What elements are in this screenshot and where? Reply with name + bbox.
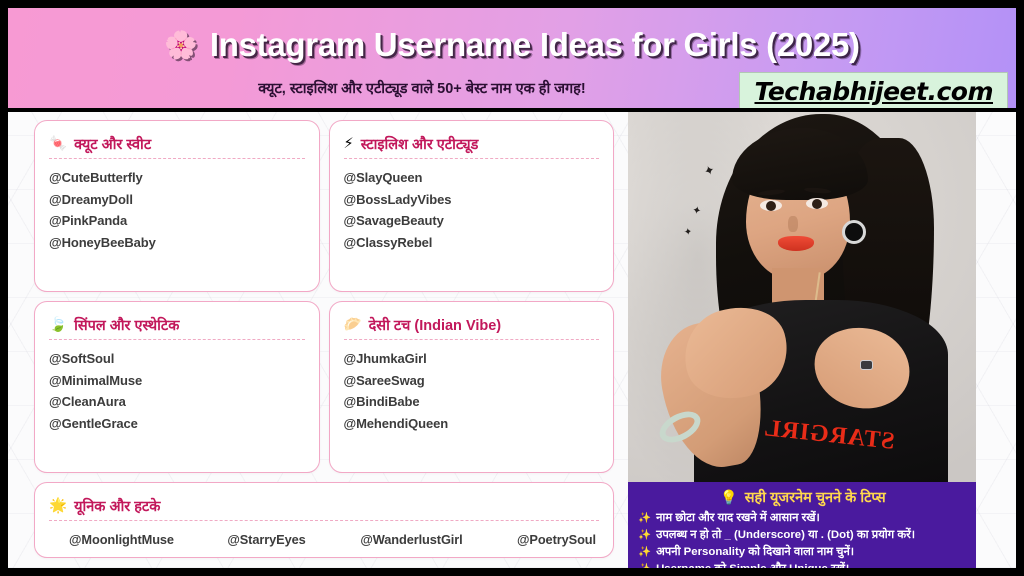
list-item[interactable]: @SlayQueen [344, 167, 600, 189]
eye [806, 198, 828, 209]
category-card[interactable]: 🥟 देसी टच (Indian Vibe) @JhumkaGirl @Sar… [329, 301, 615, 473]
list-item[interactable]: @PoetrySoul [484, 529, 629, 551]
header-banner: 🌸 Instagram Username Ideas for Girls (20… [8, 8, 1016, 108]
list-item[interactable]: @CleanAura [49, 391, 305, 413]
sparkles-icon: ✨ [638, 547, 651, 558]
card-header: 🥟 देसी टच (Indian Vibe) [344, 315, 600, 335]
card-title: स्टाइलिश और एटीट्यूड [361, 134, 479, 154]
list-item[interactable]: @StarryEyes [194, 529, 339, 551]
lightning-bolt-icon: ⚡ [344, 137, 354, 152]
list-item[interactable]: @DreamyDoll [49, 189, 305, 211]
butterfly-icon: ✦ [701, 159, 719, 183]
tip-item: ✨ उपलब्ध न हो तो _ (Underscore) या . (Do… [638, 527, 968, 542]
list-item[interactable]: @JhumkaGirl [344, 348, 600, 370]
divider [49, 158, 305, 159]
nose [788, 216, 798, 232]
shirt-text: STARGIRL [753, 414, 905, 457]
card-title: सिंपल और एस्थेटिक [74, 315, 179, 335]
list-item[interactable]: @GentleGrace [49, 413, 305, 435]
username-list: @CuteButterfly @DreamyDoll @PinkPanda @H… [49, 167, 305, 253]
finger-ring [860, 360, 873, 370]
list-item[interactable]: @MoonlightMuse [49, 529, 194, 551]
watermark-text: Techabhijeet.com [754, 77, 993, 106]
watermark-badge: Techabhijeet.com [739, 72, 1008, 108]
tip-item: ✨ Username को Simple और Unique रखें। [638, 561, 968, 568]
header-title-row: 🌸 Instagram Username Ideas for Girls (20… [8, 26, 1016, 64]
category-grid: 🍬 क्यूट और स्वीट @CuteButterfly @DreamyD… [34, 120, 614, 558]
list-item[interactable]: @WanderlustGirl [339, 529, 484, 551]
cherry-blossom-icon: 🌸 [164, 32, 198, 59]
tip-text: Username को Simple और Unique रखें। [656, 561, 849, 568]
list-item[interactable]: @SavageBeauty [344, 210, 600, 232]
card-title: देसी टच (Indian Vibe) [369, 315, 502, 335]
infographic-page: 🌸 Instagram Username Ideas for Girls (20… [0, 0, 1024, 576]
tip-item: ✨ नाम छोटा और याद रखने में आसान रखें। [638, 510, 968, 525]
list-item[interactable]: @PinkPanda [49, 210, 305, 232]
tip-text: नाम छोटा और याद रखने में आसान रखें। [656, 510, 820, 525]
list-item[interactable]: @SoftSoul [49, 348, 305, 370]
unique-names-card[interactable]: 🌟 यूनिक और हटके @MoonlightMuse @StarryEy… [34, 482, 614, 558]
divider [344, 339, 600, 340]
card-header: 🍬 क्यूट और स्वीट [49, 134, 305, 154]
category-card[interactable]: ⚡ स्टाइलिश और एटीट्यूड @SlayQueen @BossL… [329, 120, 615, 292]
card-header: 🌟 यूनिक और हटके [49, 496, 599, 516]
divider [49, 520, 599, 521]
list-item[interactable]: @MinimalMuse [49, 370, 305, 392]
username-list: @SlayQueen @BossLadyVibes @SavageBeauty … [344, 167, 600, 253]
category-cards-column: 🍬 क्यूट और स्वीट @CuteButterfly @DreamyD… [34, 120, 614, 568]
sparkle-star-icon: 🌟 [49, 499, 67, 514]
tip-text: अपनी Personality को दिखाने वाला नाम चुने… [656, 544, 854, 559]
category-card[interactable]: 🍃 सिंपल और एस्थेटिक @SoftSoul @MinimalMu… [34, 301, 320, 473]
card-title: यूनिक और हटके [74, 496, 160, 516]
card-header: 🍃 सिंपल और एस्थेटिक [49, 315, 305, 335]
content-area: 🍬 क्यूट और स्वीट @CuteButterfly @DreamyD… [8, 112, 1016, 568]
sparkles-icon: ✨ [638, 564, 651, 568]
username-list: @SoftSoul @MinimalMuse @CleanAura @Gentl… [49, 348, 305, 434]
tips-panel: 💡 सही यूजरनेम चुनने के टिप्स ✨ नाम छोटा … [628, 482, 976, 568]
list-item[interactable]: @MehendiQueen [344, 413, 600, 435]
tip-item: ✨ अपनी Personality को दिखाने वाला नाम चु… [638, 544, 968, 559]
list-item[interactable]: @SareeSwag [344, 370, 600, 392]
sparkles-icon: ✨ [638, 513, 651, 524]
tip-text: उपलब्ध न हो तो _ (Underscore) या . (Dot)… [656, 527, 915, 542]
card-title: क्यूट और स्वीट [74, 134, 151, 154]
list-item[interactable]: @HoneyBeeBaby [49, 232, 305, 254]
list-item[interactable]: @CuteButterfly [49, 167, 305, 189]
diya-lamp-icon: 🥟 [344, 318, 362, 333]
list-item[interactable]: @ClassyRebel [344, 232, 600, 254]
divider [344, 158, 600, 159]
leaf-icon: 🍃 [49, 318, 67, 333]
divider [49, 339, 305, 340]
list-item[interactable]: @BindiBabe [344, 391, 600, 413]
eye [760, 200, 782, 211]
list-item[interactable]: @BossLadyVibes [344, 189, 600, 211]
tips-header: 💡 सही यूजरनेम चुनने के टिप्स [638, 487, 968, 507]
right-panel: ✦ ✦ ✦ STARGIRL [628, 112, 976, 568]
model-photo: ✦ ✦ ✦ STARGIRL [628, 112, 976, 482]
earring [842, 220, 866, 244]
page-title: Instagram Username Ideas for Girls (2025… [210, 26, 860, 64]
username-list: @JhumkaGirl @SareeSwag @BindiBabe @Mehen… [344, 348, 600, 434]
candy-icon: 🍬 [49, 137, 67, 152]
category-card[interactable]: 🍬 क्यूट और स्वीट @CuteButterfly @DreamyD… [34, 120, 320, 292]
butterfly-icon: ✦ [690, 199, 704, 222]
username-row: @MoonlightMuse @StarryEyes @WanderlustGi… [49, 529, 599, 551]
card-header: ⚡ स्टाइलिश और एटीट्यूड [344, 134, 600, 154]
lightbulb-icon: 💡 [720, 490, 737, 504]
sparkles-icon: ✨ [638, 530, 651, 541]
butterfly-icon: ✦ [683, 222, 694, 245]
tips-title: सही यूजरनेम चुनने के टिप्स [745, 487, 886, 507]
